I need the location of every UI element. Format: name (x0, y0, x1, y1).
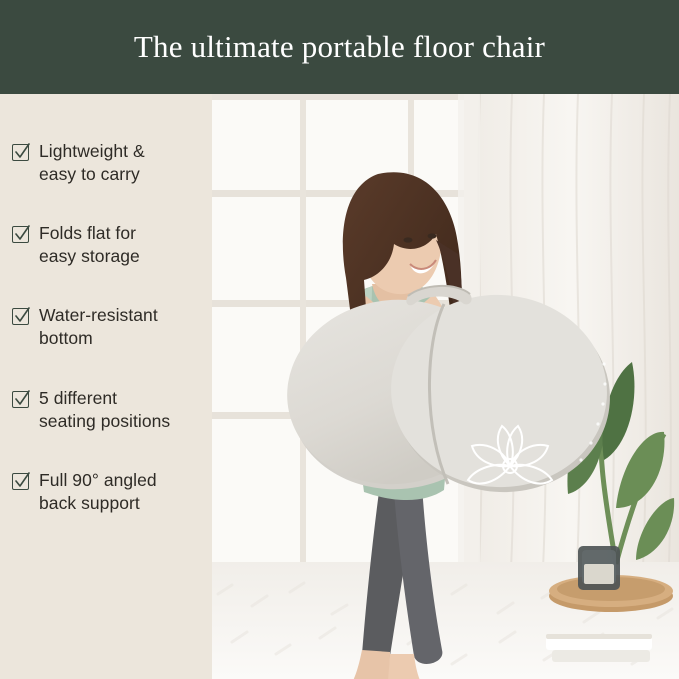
feature-item-seating-positions: 5 different seating positions (12, 387, 200, 433)
feature-label: Water-resistant bottom (39, 304, 158, 350)
feature-label: Folds flat for easy storage (39, 222, 140, 268)
feature-item-water-resistant: Water-resistant bottom (12, 304, 200, 350)
product-infographic: The ultimate portable floor chair Lightw… (0, 0, 679, 679)
checkbox-icon (12, 144, 29, 161)
feature-item-back-support: Full 90° angled back support (12, 469, 200, 515)
checkbox-icon (12, 308, 29, 325)
header-band: The ultimate portable floor chair (0, 0, 679, 94)
product-photo (212, 94, 679, 679)
checkbox-icon (12, 391, 29, 408)
features-panel: Lightweight & easy to carry Folds flat f… (0, 94, 212, 679)
feature-item-folds-flat: Folds flat for easy storage (12, 222, 200, 268)
checkbox-icon (12, 473, 29, 490)
feature-label: Lightweight & easy to carry (39, 140, 145, 186)
feature-item-lightweight: Lightweight & easy to carry (12, 140, 200, 186)
checkbox-icon (12, 226, 29, 243)
page-title: The ultimate portable floor chair (134, 30, 545, 64)
photo-illustration (212, 94, 679, 679)
feature-label: 5 different seating positions (39, 387, 170, 433)
feature-label: Full 90° angled back support (39, 469, 157, 515)
